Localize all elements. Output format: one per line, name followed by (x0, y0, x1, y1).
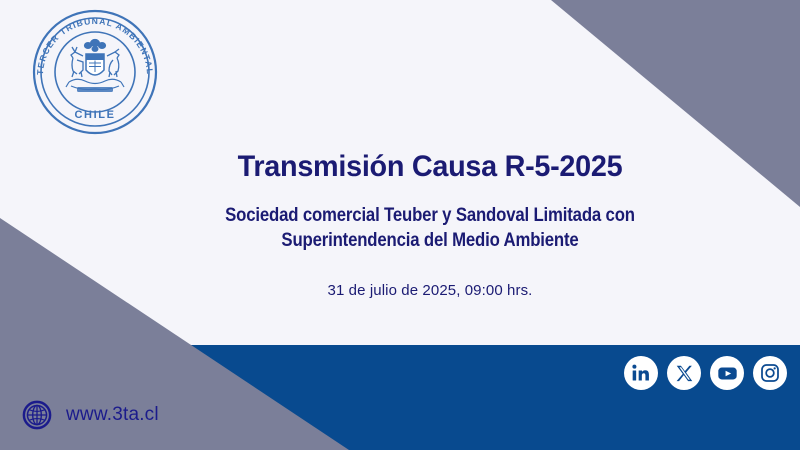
slide-text-block: Transmisión Causa R-5-2025 Sociedad come… (130, 150, 730, 299)
x-glyph (675, 364, 694, 383)
case-parties-subtitle: Sociedad comercial Teuber y Sandoval Lim… (172, 203, 688, 253)
website-url-text: www.3ta.cl (66, 404, 159, 426)
instagram-glyph (760, 363, 780, 383)
youtube-glyph (717, 363, 738, 384)
presentation-slide: TERCER TRIBUNAL AMBIENTAL CHILE (0, 0, 800, 450)
page-title: Transmisión Causa R-5-2025 (142, 150, 718, 183)
coat-of-arms (66, 39, 124, 92)
subtitle-line-1: Sociedad comercial Teuber y Sandoval Lim… (172, 203, 688, 228)
x-twitter-icon[interactable] (667, 356, 701, 390)
website-link[interactable]: www.3ta.cl (22, 400, 159, 430)
seal-bottom-text: CHILE (75, 109, 116, 121)
institution-logo: TERCER TRIBUNAL AMBIENTAL CHILE (25, 8, 165, 136)
globe-icon (22, 400, 52, 430)
youtube-icon[interactable] (710, 356, 744, 390)
instagram-icon[interactable] (753, 356, 787, 390)
session-datetime: 31 de julio de 2025, 09:00 hrs. (130, 282, 730, 299)
linkedin-glyph (631, 363, 651, 383)
social-links-bar (624, 356, 787, 390)
subtitle-line-2: Superintendencia del Medio Ambiente (172, 228, 688, 253)
linkedin-icon[interactable] (624, 356, 658, 390)
